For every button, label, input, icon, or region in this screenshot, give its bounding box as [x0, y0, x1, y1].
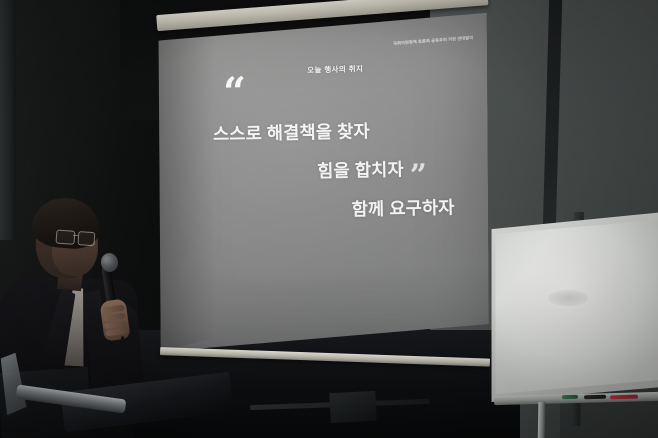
whiteboard-surface: [492, 218, 658, 396]
whiteboard-smudge: [548, 290, 588, 306]
whiteboard-leg: [538, 402, 546, 438]
presentation-photo: 국회의원정책 토론회 공동주최 의원 연대발의 오늘 행사의 취지 “ 스스로 …: [0, 0, 658, 438]
slide-eyebrow-label: 오늘 행사의 취지: [307, 63, 363, 76]
whiteboard: [488, 212, 658, 438]
glasses-lens-right: [77, 231, 95, 246]
marker-black: [584, 395, 606, 400]
glasses-lens-left: [55, 230, 75, 245]
slide-line-1: 스스로 해결책을 찾자: [185, 116, 461, 147]
marker-green: [562, 395, 578, 399]
glasses-icon: [56, 230, 99, 245]
marker-red: [610, 395, 638, 400]
quote-close-icon: ”: [410, 165, 428, 186]
screen-gradient-overlay: [159, 263, 490, 360]
projection-screen: 국회의원정책 토론회 공동주최 의원 연대발의 오늘 행사의 취지 “ 스스로 …: [157, 13, 489, 367]
slide-line-3: 함께 요구하자: [186, 194, 462, 225]
speaker-hand: [99, 298, 130, 341]
desk-equipment: [329, 391, 377, 423]
screen-bottom-weight-bar: [160, 347, 490, 367]
screen-surface: 국회의원정책 토론회 공동주최 의원 연대발의 오늘 행사의 취지 “ 스스로 …: [157, 13, 489, 355]
slide-header-note: 국회의원정책 토론회 공동주최 의원 연대발의: [343, 35, 473, 52]
quote-open-icon: “: [223, 78, 247, 107]
whiteboard-frame: [488, 212, 658, 402]
